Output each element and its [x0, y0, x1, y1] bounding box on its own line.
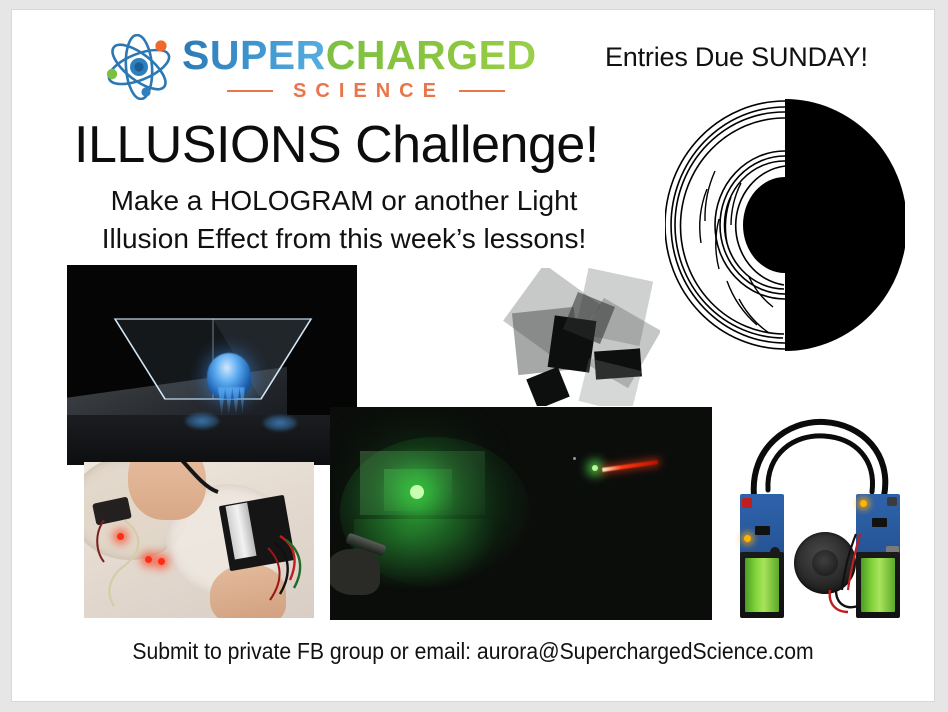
circuit-boards-photo — [724, 414, 916, 618]
hand-silhouette — [330, 549, 380, 595]
subtitle-line-1: Make a HOLOGRAM or another Light — [84, 182, 604, 220]
logo-wordmark-bottom: SCIENCE — [182, 80, 550, 102]
green-laser-spot — [410, 485, 424, 499]
subtitle-line-2: Illusion Effect from this week’s lessons… — [84, 220, 604, 258]
speaker-leads — [724, 414, 916, 618]
logo-wordmark-top: SUPERCHARGED — [182, 32, 537, 78]
logo-rule-right — [459, 90, 505, 92]
subtitle: Make a HOLOGRAM or another Light Illusio… — [84, 182, 604, 258]
red-laser-beam — [602, 460, 658, 472]
supercharged-science-logo[interactable]: SUPERCHARGED SCIENCE — [100, 32, 550, 104]
logo-rule-left — [227, 90, 273, 92]
jellyfish-reflection-left — [185, 413, 219, 429]
logo-word-charged: CHARGED — [326, 32, 537, 78]
hologram-pyramid-photo — [67, 265, 357, 465]
deadline-text: Entries Due SUNDAY! — [605, 42, 868, 73]
polarizer-squares-photo — [495, 268, 660, 406]
laser-projection-photo — [330, 407, 712, 620]
led-hand-photo — [84, 462, 314, 618]
atom-icon — [100, 34, 178, 100]
optical-illusion-spiral-graphic — [665, 93, 905, 358]
slide-canvas: SUPERCHARGED SCIENCE Entries Due SUNDAY!… — [12, 10, 934, 701]
submit-instructions: Submit to private FB group or email: aur… — [49, 638, 897, 665]
logo-word-super: SUPER — [182, 32, 326, 78]
logo-word-science: SCIENCE — [273, 80, 459, 103]
page-title: ILLUSIONS Challenge! — [74, 115, 599, 175]
wire-bundle — [84, 462, 314, 618]
jellyfish-reflection-right — [263, 415, 297, 431]
logo-wordmark: SUPERCHARGED SCIENCE — [182, 32, 550, 102]
faint-speck — [573, 457, 576, 460]
red-laser-source-dot — [592, 465, 598, 471]
slide-frame: SUPERCHARGED SCIENCE Entries Due SUNDAY!… — [0, 0, 948, 712]
